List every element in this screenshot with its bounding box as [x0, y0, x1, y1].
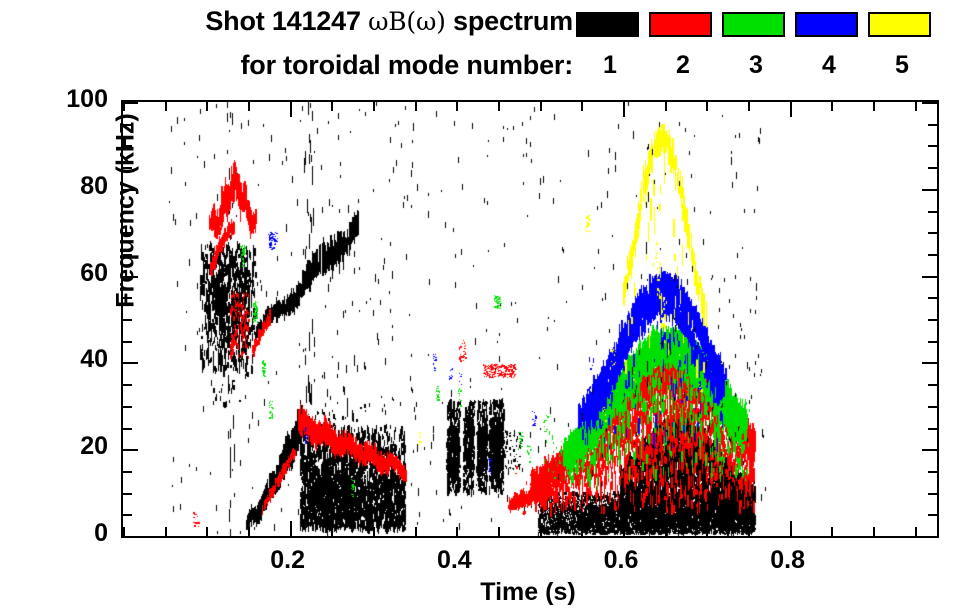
y-tick — [123, 514, 132, 516]
x-tick — [581, 102, 583, 111]
x-tick — [290, 102, 292, 117]
y-tick — [922, 276, 937, 278]
y-tick — [123, 536, 138, 538]
y-tick — [928, 406, 937, 408]
x-tick — [123, 527, 125, 536]
x-tick — [415, 102, 417, 111]
y-tick-label: 60 — [80, 261, 108, 286]
x-tick — [915, 102, 917, 111]
y-tick — [123, 471, 132, 473]
y-tick — [928, 471, 937, 473]
x-tick — [248, 102, 250, 111]
x-tick — [748, 527, 750, 536]
legend-swatch-n4 — [795, 12, 858, 37]
x-tick — [373, 527, 375, 536]
y-tick — [123, 449, 138, 451]
x-tick — [623, 521, 625, 536]
y-tick — [928, 341, 937, 343]
x-tick — [290, 521, 292, 536]
y-tick — [928, 297, 937, 299]
y-tick — [928, 145, 937, 147]
x-tick — [706, 102, 708, 111]
x-tick — [790, 102, 792, 117]
x-tick-label: 0.4 — [419, 546, 489, 575]
omega-b-omega-label: ωB(ω) — [368, 7, 446, 36]
figure-header: Shot 141247 ωB(ω) spectrum for toroidal … — [0, 0, 963, 96]
spectrogram-canvas — [123, 102, 937, 536]
legend-label-n4: 4 — [795, 51, 863, 80]
y-tick — [123, 406, 132, 408]
x-tick — [540, 102, 542, 111]
legend-label-n1: 1 — [576, 51, 644, 80]
x-tick — [706, 527, 708, 536]
x-tick — [748, 102, 750, 111]
y-tick-label: 0 — [94, 521, 108, 546]
y-tick — [928, 428, 937, 430]
y-tick-label: 40 — [80, 347, 108, 372]
y-tick — [922, 102, 937, 104]
y-tick — [928, 254, 937, 256]
spectrogram-figure: Shot 141247 ωB(ω) spectrum for toroidal … — [0, 0, 963, 615]
legend-item-n5: 5 — [868, 12, 936, 80]
y-axis-tick-labels: 020406080100 — [0, 0, 108, 615]
x-axis-title: Time (s) — [328, 578, 728, 607]
page-title: Shot 141247 ωB(ω) spectrum — [108, 6, 573, 37]
y-tick — [922, 189, 937, 191]
y-tick — [928, 232, 937, 234]
plot-area — [121, 100, 939, 538]
x-tick-label: 0.6 — [586, 546, 656, 575]
legend-swatch-n5 — [868, 12, 931, 37]
title-prefix: Shot — [205, 6, 264, 36]
legend-item-n2: 2 — [649, 12, 717, 80]
x-tick — [623, 102, 625, 117]
x-tick — [206, 527, 208, 536]
x-tick — [540, 527, 542, 536]
y-tick — [928, 124, 937, 126]
x-tick — [915, 527, 917, 536]
x-tick — [248, 527, 250, 536]
x-tick — [331, 527, 333, 536]
y-tick — [922, 449, 937, 451]
y-tick — [123, 493, 132, 495]
x-tick — [373, 102, 375, 111]
title-suffix: spectrum — [453, 6, 573, 36]
y-tick — [928, 319, 937, 321]
x-tick — [498, 527, 500, 536]
y-tick — [928, 211, 937, 213]
y-tick — [922, 536, 937, 538]
y-tick — [123, 384, 132, 386]
x-tick — [456, 527, 458, 536]
legend-swatch-n2 — [649, 12, 712, 37]
x-tick — [498, 102, 500, 111]
y-axis-title: Frequency (kHz) — [112, 61, 141, 361]
legend-item-n1: 1 — [576, 12, 644, 80]
y-tick — [123, 428, 132, 430]
legend: 1 2 3 4 5 — [576, 12, 956, 92]
x-tick — [665, 527, 667, 536]
shot-number: 141247 — [272, 6, 361, 36]
page-subtitle: for toroidal mode number: — [108, 50, 573, 81]
y-tick — [928, 514, 937, 516]
x-tick — [165, 102, 167, 111]
legend-label-n5: 5 — [868, 51, 936, 80]
y-tick — [928, 493, 937, 495]
y-tick-label: 20 — [80, 434, 108, 459]
legend-item-n4: 4 — [795, 12, 863, 80]
legend-label-n3: 3 — [722, 51, 790, 80]
x-tick — [165, 527, 167, 536]
x-tick — [790, 521, 792, 536]
legend-label-n2: 2 — [649, 51, 717, 80]
x-tick — [206, 102, 208, 111]
y-tick-label: 80 — [80, 174, 108, 199]
x-tick — [665, 102, 667, 111]
y-tick — [123, 362, 138, 364]
legend-swatch-n3 — [722, 12, 785, 37]
x-tick — [581, 527, 583, 536]
legend-swatch-n1 — [576, 12, 639, 37]
x-tick-label: 0.8 — [753, 546, 823, 575]
x-tick — [831, 102, 833, 111]
y-tick — [928, 384, 937, 386]
x-tick — [873, 102, 875, 111]
x-tick — [331, 102, 333, 111]
x-tick-label: 0.2 — [253, 546, 323, 575]
y-tick — [928, 167, 937, 169]
x-tick — [831, 527, 833, 536]
x-tick — [456, 102, 458, 111]
x-tick — [873, 527, 875, 536]
x-tick — [415, 527, 417, 536]
legend-item-n3: 3 — [722, 12, 790, 80]
y-tick-label: 100 — [66, 87, 108, 112]
y-tick — [922, 362, 937, 364]
